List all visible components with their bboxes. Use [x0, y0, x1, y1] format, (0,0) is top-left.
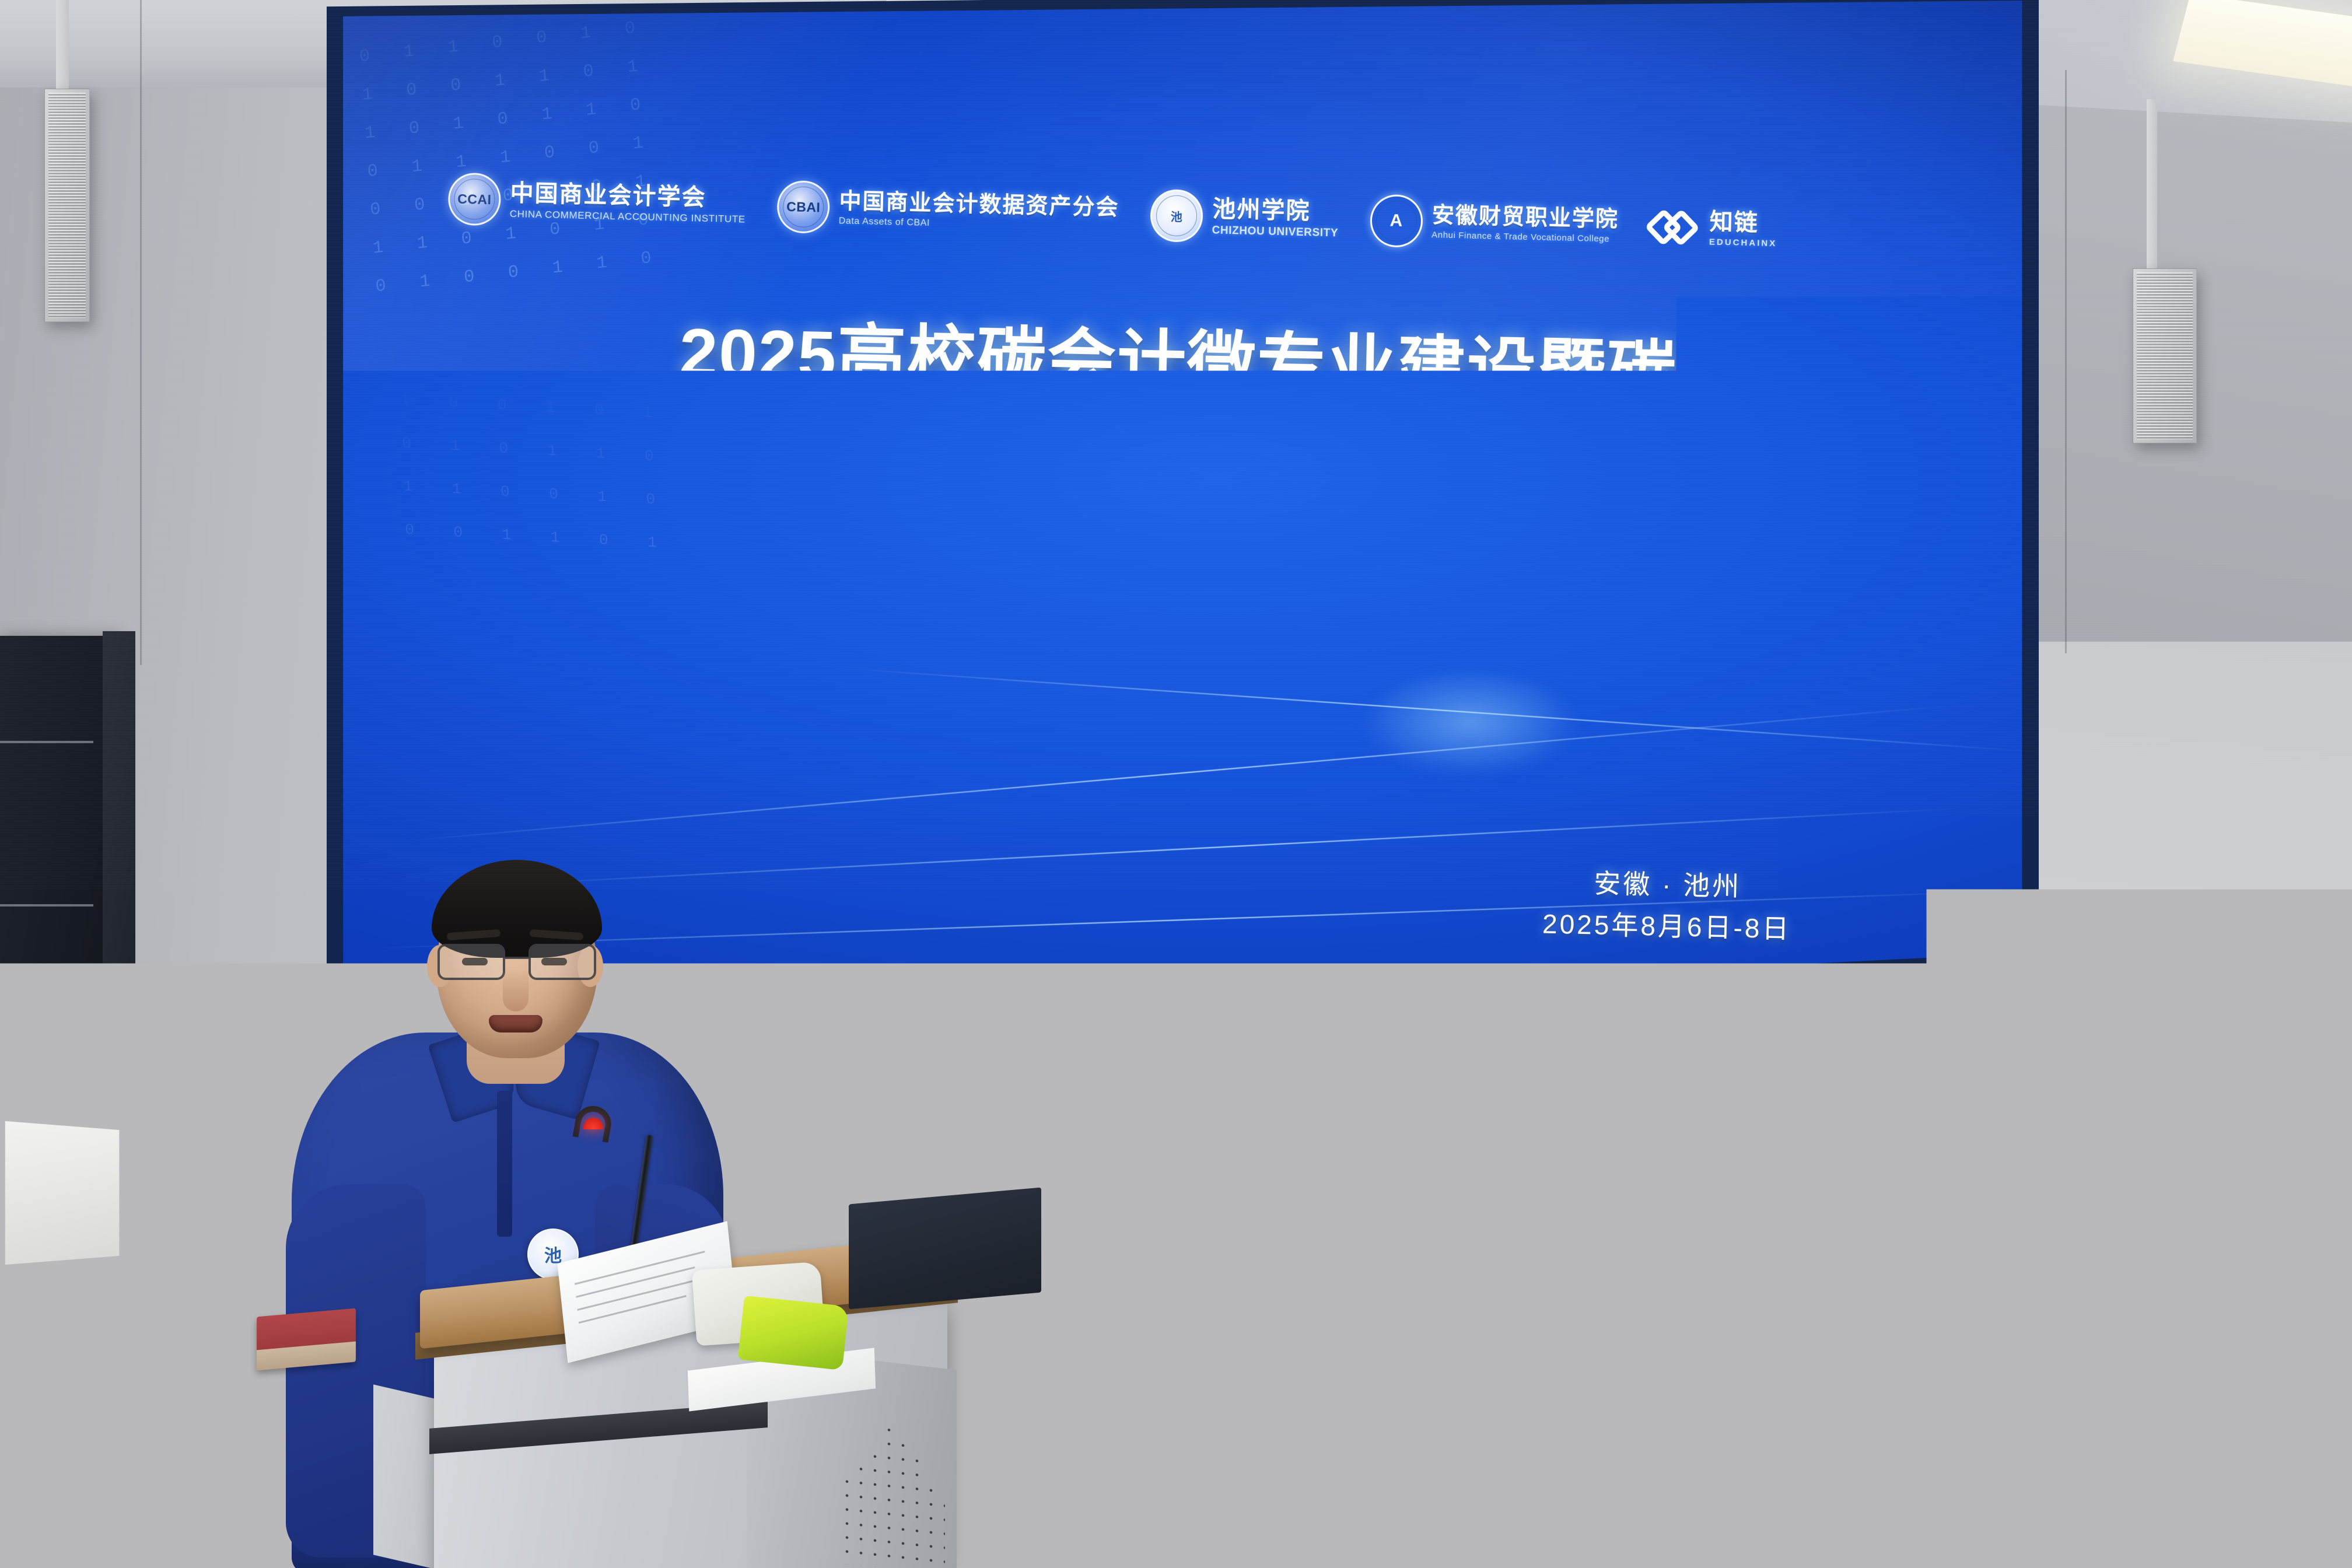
red-gift-box [257, 1308, 356, 1371]
wall-seam [140, 0, 142, 665]
wall-seam [2065, 70, 2067, 653]
glasses-lens-left [437, 944, 505, 980]
right-speaker-mount [2147, 99, 2157, 274]
audience-shoulders [1085, 1522, 1505, 1568]
presenter-nose [503, 970, 528, 1012]
presenter-hair [432, 860, 602, 958]
left-wall-speaker [44, 89, 90, 322]
glasses-lens-right [528, 944, 596, 980]
presenter-shirt-placket [497, 1091, 512, 1237]
right-wall-speaker [2133, 268, 2197, 443]
audience-shoulders [2053, 1429, 2352, 1568]
speaker-grille-icon [48, 93, 86, 318]
photo-scene: 1 0 1 1 0 0 1 0 0 1 0 0 1 1 0 1 1 1 0 1 … [0, 0, 2352, 1568]
extinguisher-nozzle [2247, 1128, 2268, 1146]
glasses-bridge [505, 957, 528, 959]
presenter-mouth [489, 1015, 542, 1032]
water-bottle [1686, 1464, 1720, 1568]
left-speaker-mount [56, 0, 69, 93]
audience-member-far-right [2088, 1237, 2352, 1568]
speaker-grille-icon [2137, 272, 2193, 439]
audience-member-center [1097, 1359, 1470, 1568]
floor-standing-poster [5, 1121, 120, 1265]
flask-handle [2105, 1218, 2161, 1239]
